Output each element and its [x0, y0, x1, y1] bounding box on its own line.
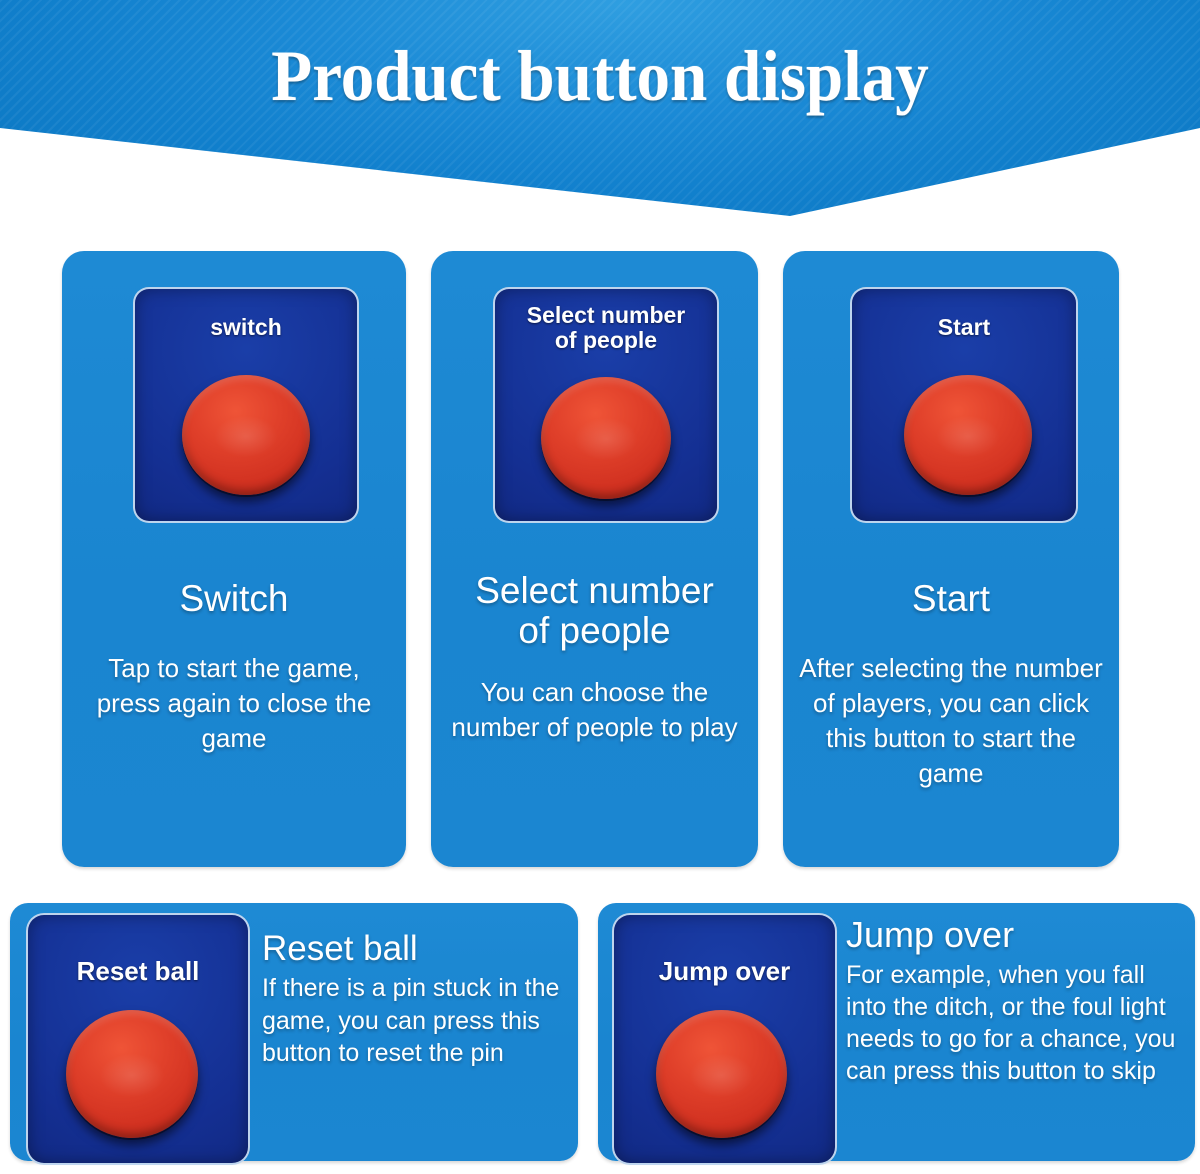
button-photo-panel-reset-ball: Reset ball: [26, 913, 250, 1165]
card-title-reset-ball: Reset ball: [262, 929, 570, 968]
panel-label-start: Start: [852, 315, 1076, 340]
red-push-button-icon[interactable]: [182, 375, 310, 495]
panel-label-line-1: Select number: [495, 303, 717, 328]
red-push-button-icon[interactable]: [66, 1010, 198, 1138]
card-title-line-1: Select number: [431, 571, 758, 611]
card-start[interactable]: Start Start After selecting the number o…: [783, 251, 1119, 867]
card-title-select-number-of-people: Select number of people: [431, 571, 758, 651]
button-photo-panel-jump-over: Jump over: [612, 913, 837, 1165]
card-jump-over[interactable]: Jump over Jump over For example, when yo…: [598, 903, 1195, 1161]
button-photo-panel-switch: switch: [133, 287, 359, 523]
card-description-switch: Tap to start the game, press again to cl…: [78, 651, 390, 756]
card-title-jump-over: Jump over: [846, 915, 1190, 955]
card-description-select-number-of-people: You can choose the number of people to p…: [441, 675, 748, 745]
card-reset-ball[interactable]: Reset ball Reset ball If there is a pin …: [10, 903, 578, 1161]
card-text-jump-over: Jump over For example, when you fall int…: [846, 915, 1190, 1087]
panel-label-jump-over: Jump over: [614, 957, 835, 985]
card-select-number-of-people[interactable]: Select number of people Select number of…: [431, 251, 758, 867]
card-title-line-2: of people: [431, 611, 758, 651]
red-push-button-icon[interactable]: [656, 1010, 787, 1138]
card-description-start: After selecting the number of players, y…: [799, 651, 1103, 791]
button-photo-panel-start: Start: [850, 287, 1078, 523]
panel-label-reset-ball: Reset ball: [28, 957, 248, 985]
page-title: Product button display: [42, 40, 1158, 112]
card-title-start: Start: [783, 579, 1119, 619]
card-text-reset-ball: Reset ball If there is a pin stuck in th…: [262, 929, 570, 1070]
card-title-switch: Switch: [62, 579, 406, 619]
card-switch[interactable]: switch Switch Tap to start the game, pre…: [62, 251, 406, 867]
red-push-button-icon[interactable]: [904, 375, 1032, 495]
panel-label-select-number-of-people: Select number of people: [495, 303, 717, 353]
button-photo-panel-select-number-of-people: Select number of people: [493, 287, 719, 523]
panel-label-switch: switch: [135, 315, 357, 340]
card-description-jump-over: For example, when you fall into the ditc…: [846, 959, 1190, 1087]
panel-label-line-2: of people: [495, 328, 717, 353]
red-push-button-icon[interactable]: [541, 377, 671, 499]
card-description-reset-ball: If there is a pin stuck in the game, you…: [262, 972, 570, 1070]
